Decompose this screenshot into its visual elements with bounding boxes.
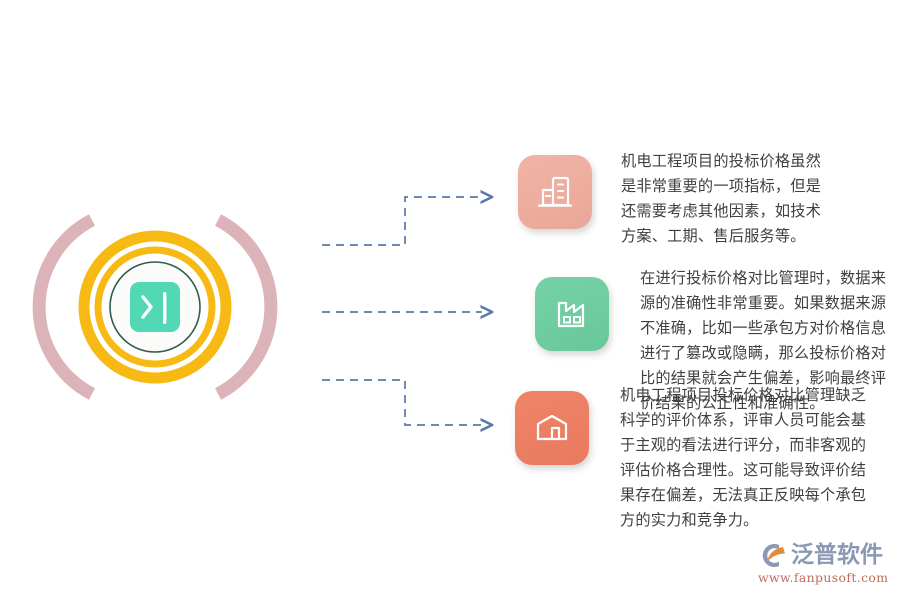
brand-logo: 泛普软件 www.fanpusoft.com <box>757 541 889 587</box>
warehouse-icon-card[interactable] <box>515 391 589 465</box>
fanpu-logo-mark <box>757 542 788 569</box>
row-3-description: 机电工程项目投标价格对比管理缺乏 科学的评价体系，评审人员可能会基 于主观的看法… <box>620 383 870 533</box>
console-bar-icon <box>163 292 166 324</box>
office-building-icon <box>533 170 577 214</box>
brand-url: www.fanpusoft.com <box>758 570 889 585</box>
content-row-3: 机电工程项目投标价格对比管理缺乏 科学的评价体系，评审人员可能会基 于主观的看法… <box>515 391 870 533</box>
factory-icon-card[interactable] <box>535 277 609 351</box>
connector-arrow-3 <box>322 380 482 425</box>
office-building-icon-card[interactable] <box>518 155 592 229</box>
row-1-description: 机电工程项目的投标价格虽然 是非常重要的一项指标，但是 还需要考虑其他因素，如技… <box>621 149 849 249</box>
warehouse-icon <box>530 406 574 450</box>
brand-name: 泛普软件 <box>791 542 883 568</box>
connector-arrow-1 <box>322 197 482 245</box>
factory-icon <box>550 292 594 336</box>
brand-logo-top: 泛普软件 <box>757 541 889 569</box>
console-tile <box>130 282 180 332</box>
infographic-canvas: 机电工程项目的投标价格虽然 是非常重要的一项指标，但是 还需要考虑其他因素，如技… <box>0 0 900 600</box>
content-row-1: 机电工程项目的投标价格虽然 是非常重要的一项指标，但是 还需要考虑其他因素，如技… <box>518 155 849 249</box>
central-console-emblem <box>30 212 280 402</box>
